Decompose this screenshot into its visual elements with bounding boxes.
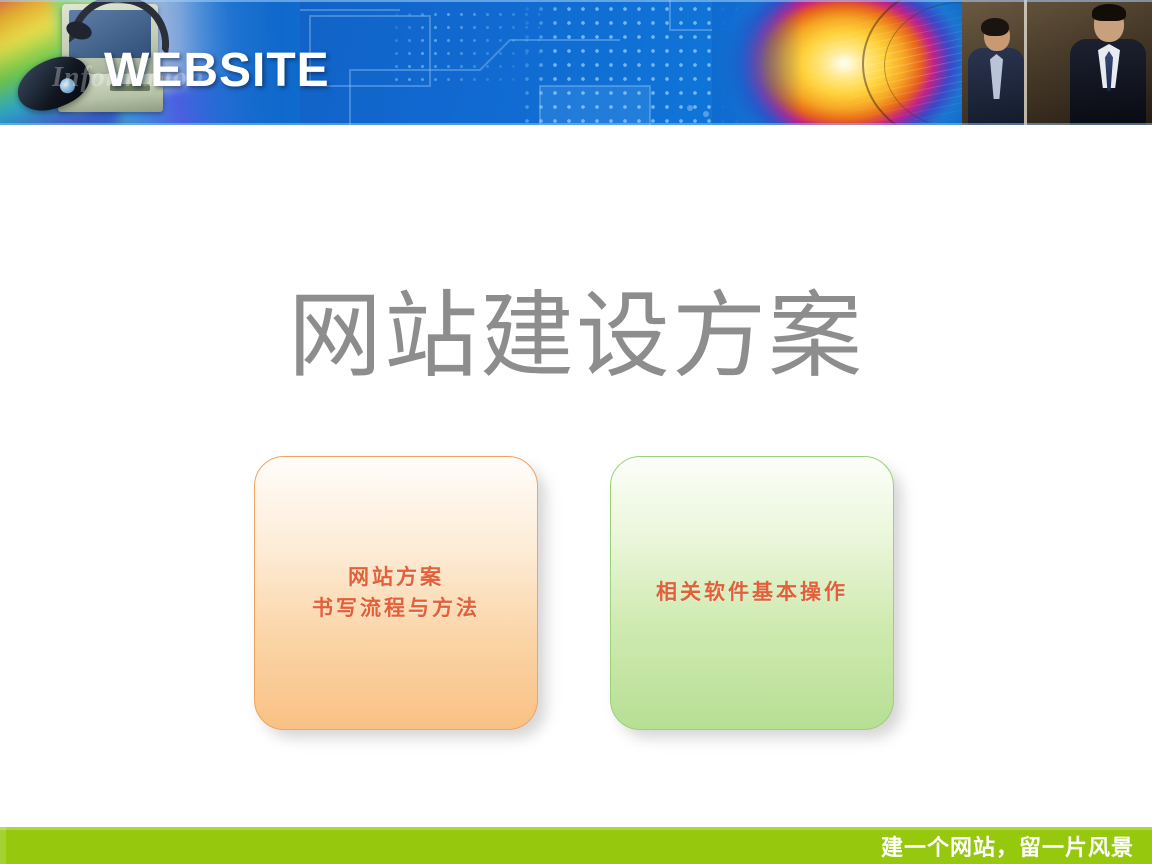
- banner-bottom-divider: [0, 123, 1152, 125]
- presentation-slide: Information: [0, 0, 1152, 864]
- banner-top-divider: [0, 0, 1152, 2]
- website-wordmark: WEBSITE: [104, 47, 330, 95]
- footer-bar: 建一个网站，留一片风景: [0, 827, 1152, 864]
- dot-matrix-pattern-secondary: [390, 8, 540, 88]
- website-plan-box-label: 网站方案 书写流程与方法: [312, 562, 480, 625]
- business-people-photo: [962, 0, 1152, 125]
- software-basics-box-label: 相关软件基本操作: [656, 577, 848, 609]
- person-woman: [968, 20, 1024, 125]
- header-banner: Information: [0, 0, 1152, 125]
- person-man: [1070, 7, 1146, 125]
- page-title: 网站建设方案: [0, 288, 1152, 387]
- footer-tagline: 建一个网站，留一片风景: [881, 830, 1134, 862]
- software-basics-box[interactable]: 相关软件基本操作: [610, 456, 894, 730]
- website-plan-box[interactable]: 网站方案 书写流程与方法: [254, 456, 538, 730]
- banner-right-graphic: [712, 0, 1152, 125]
